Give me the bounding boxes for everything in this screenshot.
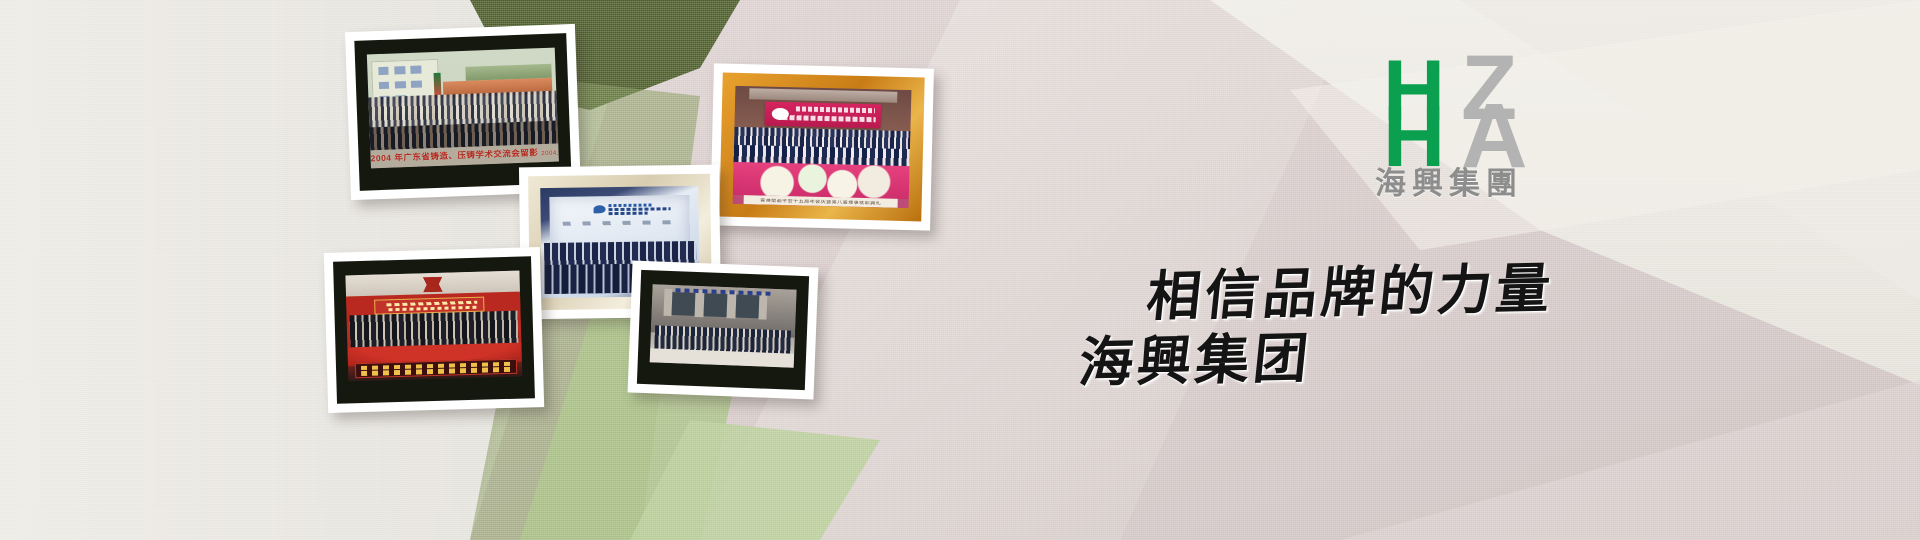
photo-frame-building-entrance	[628, 260, 819, 399]
slogan-line-2: 海興集团	[1076, 314, 1317, 398]
photo-matte	[637, 270, 809, 390]
slogan-calligraphy: 相信品牌的力量 海興集团	[1080, 248, 1520, 408]
photo-matte	[333, 256, 535, 403]
photo-image-hk-plastics: 香港塑品学会十五周年会庆暨第八届理事就职典礼	[733, 86, 912, 208]
photo-matte-gold: 香港塑品学会十五周年会庆暨第八届理事就职典礼	[719, 73, 924, 222]
photo-image-2014-group	[345, 271, 522, 382]
photo-frame-hk-plastics: 香港塑品学会十五周年会庆暨第八届理事就职典礼	[710, 63, 934, 230]
logo-chinese-name: 海興集團	[1375, 158, 1575, 203]
background-shapes	[0, 0, 1920, 540]
photo-image-building-entrance	[650, 284, 797, 367]
photo-image-2004-guangdong: 2004 年广东省铸造、压铸学术交流会留影2004.10	[367, 48, 559, 169]
brand-banner: 2004 年广东省铸造、压铸学术交流会留影2004.10 香港塑品学会十五周年会…	[0, 0, 1920, 540]
photo-frame-2014-group	[324, 247, 544, 413]
